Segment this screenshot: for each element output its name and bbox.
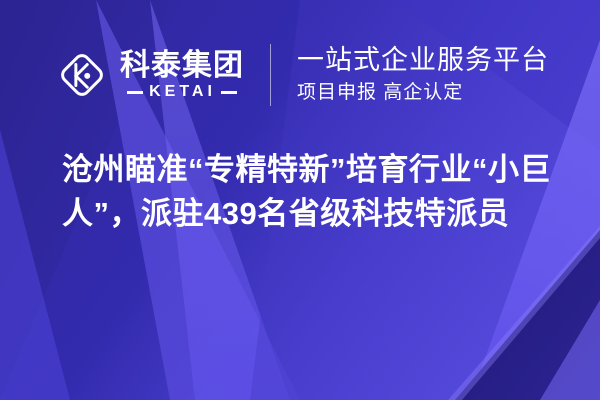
- brand-name-en: KETAI: [149, 84, 216, 100]
- brand-wordmark: 科泰集团 KETAI: [120, 50, 244, 101]
- banner-header: 科泰集团 KETAI 一站式企业服务平台 项目申报 高企认定: [0, 30, 600, 120]
- brand-tagline: 一站式企业服务平台 项目申报 高企认定: [297, 45, 549, 106]
- tagline-secondary: 项目申报 高企认定: [297, 81, 549, 106]
- brand-logo[interactable]: 科泰集团 KETAI: [54, 47, 244, 103]
- tagline-primary: 一站式企业服务平台: [297, 45, 549, 76]
- brand-name-cn: 科泰集团: [120, 50, 244, 82]
- header-divider: [270, 44, 271, 106]
- article-cover-banner: 科泰集团 KETAI 一站式企业服务平台 项目申报 高企认定 沧州瞄准“专精特新…: [0, 0, 600, 400]
- wordmark-rule-left: [127, 91, 143, 94]
- wordmark-rule-right: [221, 91, 237, 94]
- ketai-diamond-k-logo-icon: [54, 47, 110, 103]
- brand-name-en-row: KETAI: [120, 84, 244, 100]
- article-headline: 沧州瞄准“专精特新”培育行业“小巨人”，派驻439名省级科技特派员: [62, 148, 562, 236]
